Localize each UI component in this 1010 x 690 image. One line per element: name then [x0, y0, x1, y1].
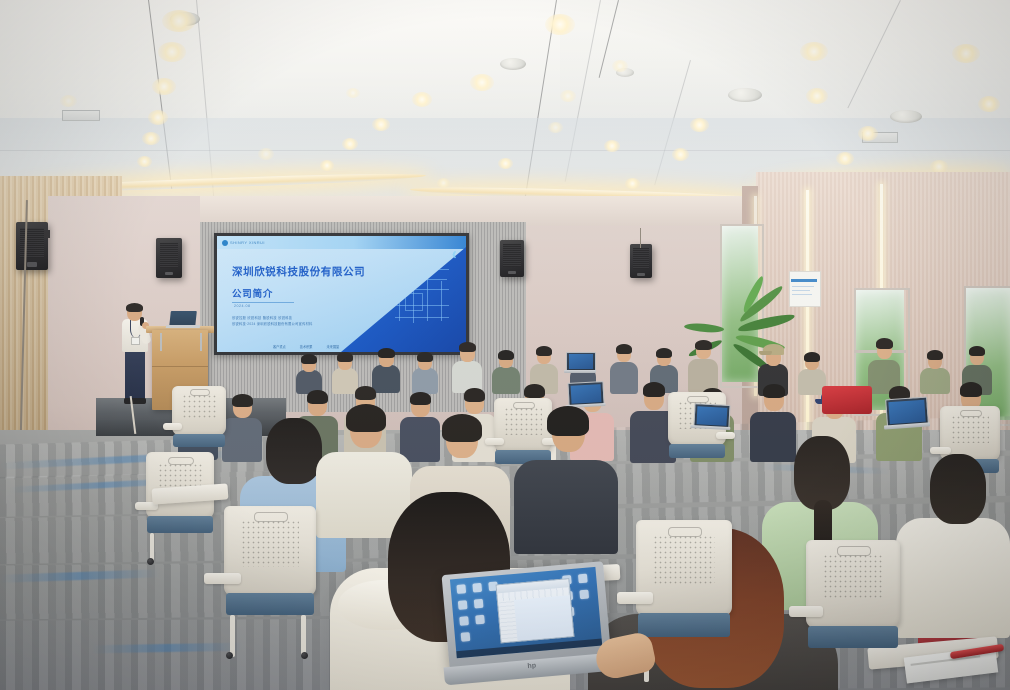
chair-seat: [638, 613, 730, 637]
speaker-bracket: [44, 230, 50, 238]
training-chair[interactable]: [224, 506, 316, 646]
chair-caster: [301, 652, 308, 659]
spreadsheet-window[interactable]: [496, 578, 574, 643]
company-logo-text: SHINRY XINRUI: [230, 240, 265, 245]
chair-handle: [254, 512, 287, 522]
chair-leg: [301, 615, 306, 657]
laptop-screen[interactable]: [450, 567, 602, 659]
wall-speaker-icon: [156, 238, 182, 278]
slide-corner-mark: 《: [449, 250, 456, 260]
wall-speaker-icon: [500, 240, 524, 277]
chair-handle: [837, 546, 871, 556]
laptop-lid: [442, 561, 612, 669]
spreadsheet-grid[interactable]: [514, 595, 573, 641]
chair-caster: [226, 652, 233, 659]
chair-arm: [789, 606, 823, 617]
chair-seat: [226, 593, 314, 615]
chair-leg: [230, 615, 235, 657]
attendee-laptop: [566, 352, 594, 370]
conference-room-photo: SHINRY XINRUI 《 深圳欣锐科技股份有限公司 公司简介 2024.0…: [0, 0, 1010, 690]
chair-perforations: [241, 520, 300, 567]
chair-handle: [190, 389, 210, 395]
hp-logo-icon: hp: [527, 663, 536, 671]
wall-speaker-icon: [630, 244, 652, 278]
slide-subtitle: 公司简介: [232, 286, 273, 300]
slide-date: 2024.08: [234, 304, 251, 308]
presenter-hair: [126, 303, 143, 312]
chair-arm: [617, 592, 653, 604]
chair-arm: [204, 573, 241, 584]
ceiling-speaker-icon: [728, 88, 762, 102]
chair-perforations: [823, 554, 883, 600]
ceiling-speaker-icon: [890, 110, 922, 123]
slide-company-title: 深圳欣锐科技股份有限公司: [232, 264, 365, 279]
chair-perforations: [653, 535, 714, 585]
chair-seat: [147, 516, 212, 533]
speaker-cable: [640, 228, 641, 248]
company-logo-icon: [222, 240, 228, 246]
podium-laptop-base: [166, 325, 201, 328]
training-chair[interactable]: [806, 540, 900, 678]
ceiling-speaker-icon: [500, 58, 526, 70]
attendee: [896, 454, 1010, 634]
slide-fine-print-1: 欣锐控股 欣锐科技 随锐科技 欣锐科技: [232, 315, 292, 320]
chair-handle: [168, 457, 193, 465]
foreground-laptop[interactable]: hp: [442, 561, 613, 685]
chair-seat: [808, 626, 898, 648]
chair-handle: [668, 527, 703, 538]
slide-fine-print-2: 欣锐科技·2024 深圳欣锐科技股份有限公司宣传材料: [232, 321, 313, 326]
slide-divider: [232, 302, 294, 303]
